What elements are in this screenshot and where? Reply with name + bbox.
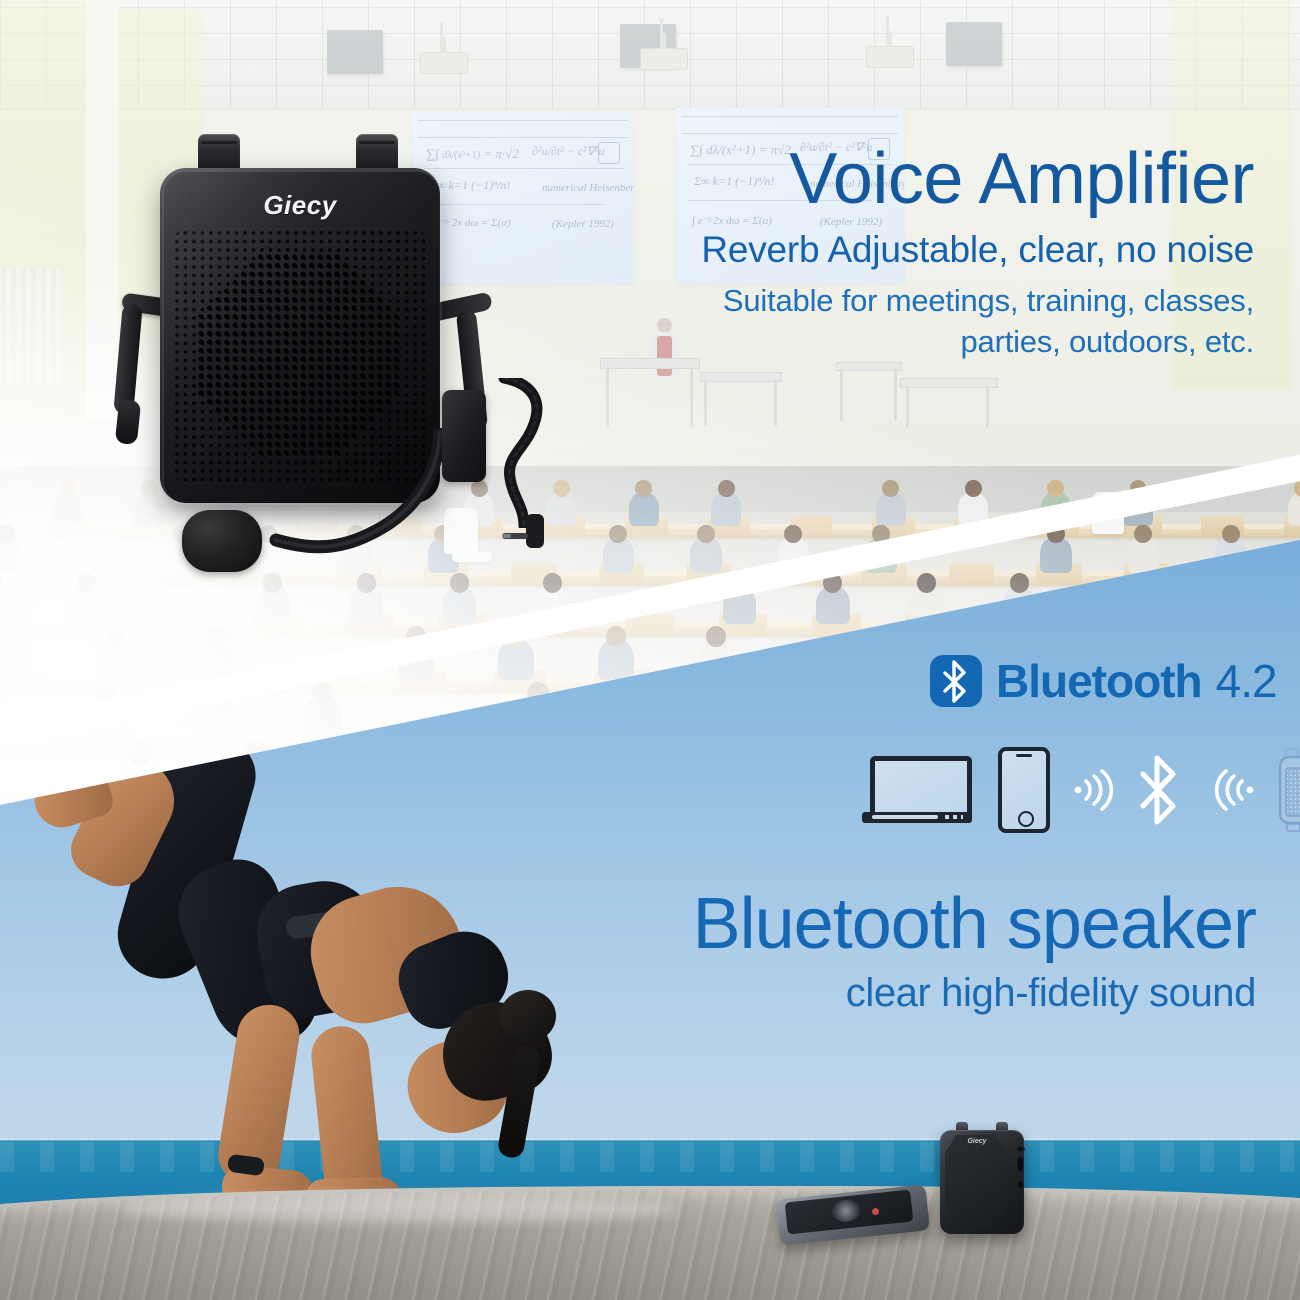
student-head — [312, 682, 334, 705]
student-head — [206, 626, 226, 647]
mini-amp-logo: Giecy — [946, 1138, 1008, 1145]
student-head — [96, 682, 118, 705]
student-head — [506, 626, 526, 647]
student — [52, 492, 82, 526]
top-body-line-2: parties, outdoors, etc. — [614, 321, 1254, 362]
cable-control-module — [442, 390, 486, 482]
student-head — [59, 480, 76, 497]
headband-ear-pad-left — [115, 399, 141, 445]
ceiling-projector-2 — [640, 48, 688, 70]
bottom-headline: Bluetooth speaker — [556, 885, 1256, 963]
yoga-hair-bun — [500, 990, 556, 1042]
student-head — [128, 741, 152, 766]
ceiling-projector-1 — [420, 52, 468, 74]
ceiling-speaker-box-3 — [946, 22, 1002, 66]
mini-amp-jack — [1016, 1146, 1025, 1152]
bluetooth-label: Bluetooth — [996, 658, 1202, 704]
student-head — [1010, 573, 1029, 592]
product-logo: Giecy — [160, 190, 440, 221]
student-head — [1222, 525, 1240, 543]
mini-amp-port-2 — [1017, 1180, 1024, 1189]
demo-table-leg-6 — [986, 386, 989, 428]
bottom-subheadline: clear high-fidelity sound — [556, 967, 1256, 1019]
student — [876, 492, 906, 526]
speaker-product-icon: Giecy — [1274, 746, 1300, 834]
smartphone-icon — [998, 747, 1050, 833]
device-chain-row: Giecy — [862, 744, 1282, 836]
product-marketing-banner: ∑∫ dλ/(x²+1) = π·√2 ∂²u/∂t² − c²∇²u Σ∞ k… — [0, 0, 1300, 1300]
top-subheadline: Reverb Adjustable, clear, no noise — [614, 226, 1254, 274]
student-head — [872, 525, 890, 543]
white-chair-2 — [1092, 492, 1124, 534]
student-head — [204, 682, 226, 705]
demo-table-leg-5 — [906, 386, 909, 428]
student-head — [706, 626, 726, 647]
ceiling-projector-3 — [866, 46, 914, 68]
student-head — [1047, 525, 1065, 543]
student-head — [106, 626, 126, 647]
headband-arm-left — [113, 303, 143, 414]
ceiling-speaker-box-1 — [327, 30, 383, 74]
signal-waves-right-icon — [1204, 762, 1260, 818]
top-body-line-1: Suitable for meetings, training, classes… — [614, 280, 1254, 321]
demo-table-1 — [700, 372, 782, 382]
student-head — [917, 573, 936, 592]
screen-header-rule — [682, 116, 898, 134]
mini-product-scene: Giecy — [770, 1120, 1050, 1280]
mic-windscreen — [182, 510, 262, 572]
bluetooth-version: 4.2 — [1216, 658, 1277, 704]
page-title: Voice Amplifier — [614, 140, 1254, 218]
student-head — [697, 525, 715, 543]
demo-table-leg-3 — [840, 369, 843, 421]
demo-table-2 — [836, 362, 902, 371]
podium-leg-right — [690, 367, 693, 427]
laptop-base-dots — [945, 815, 963, 819]
voice-amplifier-product: Giecy — [110, 128, 580, 598]
student — [1123, 492, 1153, 526]
podium-leg-left — [606, 367, 609, 427]
student-head — [823, 573, 842, 592]
bluetooth-icon — [930, 655, 982, 707]
lecture-seat — [159, 614, 208, 636]
mini-amp-port-1 — [1017, 1156, 1024, 1172]
student-head — [965, 480, 982, 497]
student-head — [718, 480, 735, 497]
mini-amp-grille — [945, 1135, 1007, 1227]
student-head — [6, 626, 26, 647]
laptop-icon — [862, 754, 972, 826]
bluetooth-badge: Bluetooth 4.2 — [930, 655, 1277, 707]
demo-table-leg-1 — [704, 380, 707, 426]
rock-highlight — [120, 1196, 680, 1222]
student — [629, 492, 659, 526]
student-head — [730, 573, 749, 592]
phone-earpiece — [1016, 754, 1032, 757]
student-head — [77, 573, 96, 592]
laptop-base-strip — [872, 815, 938, 819]
top-text-block: Voice Amplifier Reverb Adjustable, clear… — [614, 140, 1254, 362]
lecture-seat — [949, 563, 995, 584]
demo-table-leg-4 — [894, 369, 897, 421]
bluetooth-rune-icon — [1132, 752, 1186, 828]
student-head — [606, 626, 626, 647]
student — [958, 492, 988, 526]
demo-table-leg-2 — [774, 380, 777, 426]
student — [1041, 492, 1071, 526]
phone-home-button — [1018, 811, 1034, 827]
student — [711, 492, 741, 526]
signal-waves-left-icon — [1068, 762, 1124, 818]
coiled-cable — [494, 378, 548, 528]
student-head — [406, 626, 426, 647]
right-angle-jack — [502, 514, 550, 560]
bottom-text-block: Bluetooth speaker clear high-fidelity so… — [556, 885, 1256, 1019]
lecture-seat — [625, 614, 674, 636]
radiator — [0, 268, 62, 388]
demo-table-3 — [900, 378, 998, 388]
